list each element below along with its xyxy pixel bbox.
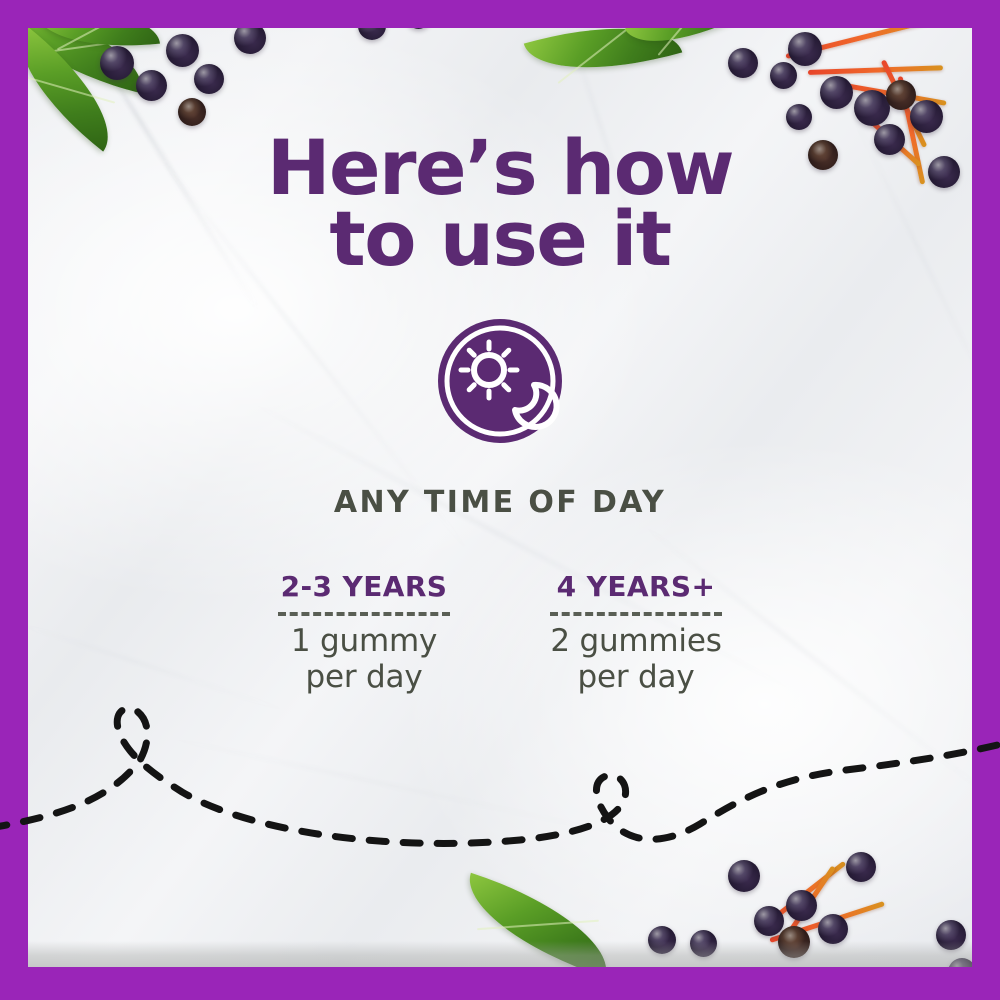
leaf-decoration xyxy=(453,873,623,967)
dosage-age-label: 2-3 YEARS xyxy=(264,570,464,603)
berry-decoration xyxy=(648,926,676,954)
berry-decoration xyxy=(754,906,784,936)
dosage-amount-line-2: per day xyxy=(536,660,736,696)
page-title: Here’s how to use it xyxy=(0,132,1000,275)
marble-vein xyxy=(153,734,662,844)
icon-container xyxy=(0,317,1000,445)
title-line-1: Here’s how xyxy=(0,132,1000,203)
dosage-amount-line-1: 2 gummies xyxy=(536,624,736,660)
content-area: Here’s how to use it xyxy=(0,0,1000,696)
dosage-divider xyxy=(550,612,722,616)
magenta-border-frame: Here’s how to use it xyxy=(0,0,1000,1000)
title-line-2: to use it xyxy=(0,203,1000,274)
dosage-amount: 2 gummies per day xyxy=(536,624,736,696)
dosage-age-label: 4 YEARS+ xyxy=(536,570,736,603)
berry-decoration xyxy=(728,860,760,892)
panel-bottom-shadow xyxy=(28,941,972,967)
sun-and-moon-icon xyxy=(436,317,564,445)
berry-decoration xyxy=(936,920,966,950)
berry-decoration xyxy=(690,930,717,957)
berry-decoration xyxy=(786,890,817,921)
dosage-column-4-years-plus: 4 YEARS+ 2 gummies per day xyxy=(536,570,736,696)
dosage-divider xyxy=(278,612,450,616)
subtitle-any-time-of-day: ANY TIME OF DAY xyxy=(0,485,1000,520)
dosage-amount-line-1: 1 gummy xyxy=(264,624,464,660)
berry-decoration xyxy=(818,914,848,944)
berry-decoration xyxy=(846,852,876,882)
dosage-column-2-3-years: 2-3 YEARS 1 gummy per day xyxy=(264,570,464,696)
berry-decoration xyxy=(948,958,972,967)
berry-decoration xyxy=(778,926,810,958)
dosage-table: 2-3 YEARS 1 gummy per day 4 YEARS+ 2 gum… xyxy=(0,570,1000,696)
dosage-amount-line-2: per day xyxy=(264,660,464,696)
dosage-amount: 1 gummy per day xyxy=(264,624,464,696)
